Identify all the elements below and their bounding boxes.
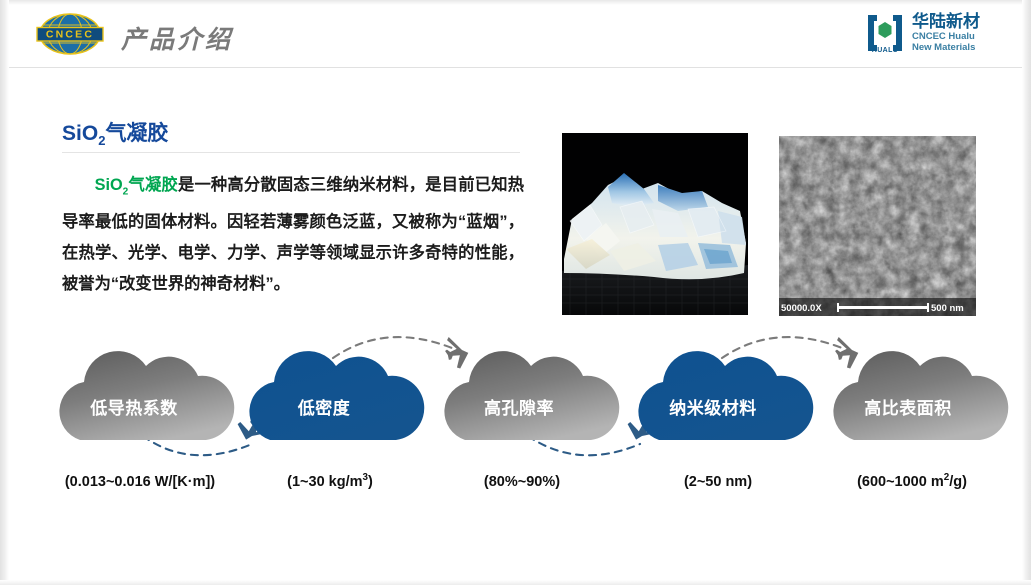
section-heading-divider [62,152,520,153]
paragraph-highlight: SiO2气凝胶 [95,176,178,194]
caption-1: (1~30 kg/m3) [250,472,410,490]
paragraph-highlight-suffix: 气凝胶 [128,176,178,194]
aerogel-sample-photo [562,133,748,315]
cncec-logo-icon: CNCEC [31,12,109,56]
caption-4: (600~1000 m2/g) [826,472,998,490]
caption-1-suffix: ) [368,474,373,490]
sem-micrograph-photo: 50000.0X 500 nm [779,136,976,316]
airplane-icon-4 [828,337,861,369]
connector-3-4 [722,337,842,358]
page-title: 产品介绍 [121,20,233,56]
slide-canvas: CNCEC 产品介绍 HUALU 华陆新材 CNCEC Hualu New Ma… [0,0,1031,585]
caption-0: (0.013~0.016 W/[K·m]) [56,472,224,490]
hualu-name-en-line2: New Materials [912,42,980,53]
sem-scalebar-label: 500 nm [931,303,964,314]
hualu-name-en-line1: CNCEC Hualu [912,31,980,42]
cloud-label-0: 低导热系数 [58,394,210,419]
section-heading-prefix: SiO [62,122,98,145]
paragraph-highlight-prefix: SiO [95,176,123,194]
caption-4-suffix: /g) [949,474,967,490]
slide-header: CNCEC 产品介绍 HUALU 华陆新材 CNCEC Hualu New Ma… [9,0,1022,68]
caption-2-text: (80%~90%) [484,474,560,490]
property-cloud-diagram: 低导热系数 低密度 高孔隙率 纳米级材料 高比表面积 [0,318,1031,488]
svg-text:HUALU: HUALU [872,47,899,54]
cloud-label-3: 纳米级材料 [637,394,789,419]
page-edge-left [0,0,9,585]
hualu-name-cn: 华陆新材 [912,13,980,31]
body-paragraph: SiO2气凝胶是一种高分散固态三维纳米材料，是目前已知热导率最低的固体材料。因轻… [62,170,524,300]
caption-2: (80%~90%) [442,472,602,490]
caption-4-text: (600~1000 m [857,474,944,490]
cloud-label-4: 高比表面积 [832,394,984,419]
airplane-icon-2 [438,337,471,369]
header-divider [9,67,1022,68]
hualu-mark-icon: HUALU [864,12,906,54]
caption-1-text: (1~30 kg/m [287,474,362,490]
caption-0-text: (0.013~0.016 W/[K·m]) [65,474,215,490]
svg-text:CNCEC: CNCEC [46,29,94,41]
cloud-label-2: 高孔隙率 [443,394,595,419]
section-heading-suffix: 气凝胶 [105,122,168,145]
sem-magnification-label: 50000.0X [781,303,822,314]
caption-3: (2~50 nm) [638,472,798,490]
hualu-logo: HUALU 华陆新材 CNCEC Hualu New Materials [864,10,1004,56]
section-heading: SiO2气凝胶 [62,117,168,148]
hualu-wordmark: 华陆新材 CNCEC Hualu New Materials [912,13,980,53]
caption-3-text: (2~50 nm) [684,474,752,490]
cloud-label-1: 低密度 [248,394,400,419]
connector-1-2 [333,337,452,358]
page-edge-right [1022,0,1031,585]
page-edge-bottom [0,580,1031,585]
